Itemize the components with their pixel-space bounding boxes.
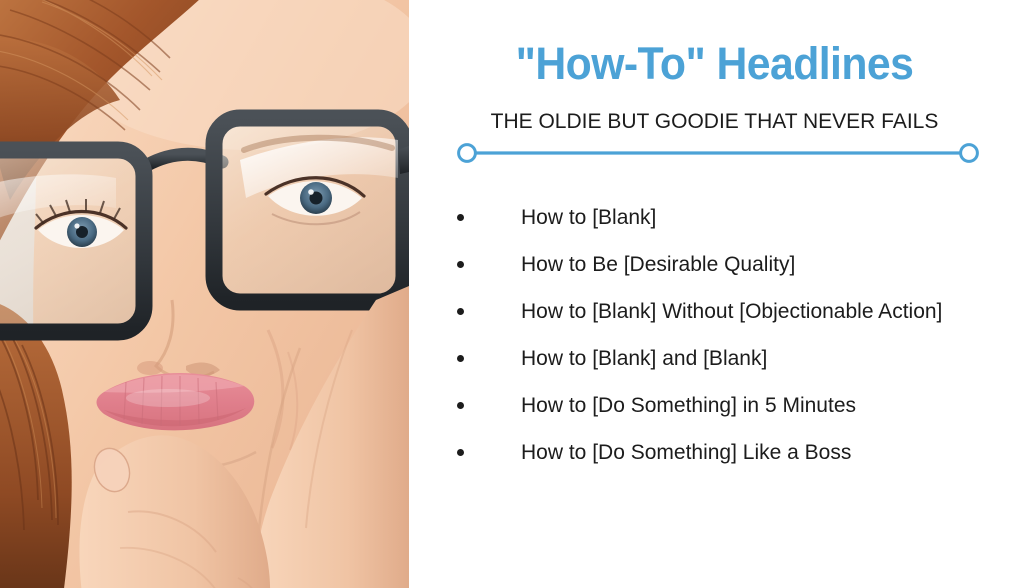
list-item-label: How to [Do Something] in 5 Minutes — [521, 394, 856, 417]
headline-list: How to [Blank] How to Be [Desirable Qual… — [453, 203, 1013, 485]
portrait-illustration — [0, 0, 409, 588]
divider — [453, 142, 983, 164]
list-item-label: How to [Blank] — [521, 206, 656, 229]
list-item: How to [Blank] Without [Objectionable Ac… — [453, 297, 1013, 344]
bullet-dot-icon — [457, 402, 464, 409]
list-item: How to [Do Something] in 5 Minutes — [453, 391, 1013, 438]
list-item-label: How to [Blank] Without [Objectionable Ac… — [521, 300, 942, 323]
bullet-dot-icon — [457, 355, 464, 362]
divider-endpoint-right-icon — [961, 145, 978, 162]
divider-line-icon — [453, 142, 983, 164]
divider-endpoint-left-icon — [459, 145, 476, 162]
list-item: How to [Blank] and [Blank] — [453, 344, 1013, 391]
list-item: How to [Blank] — [453, 203, 1013, 250]
list-item: How to Be [Desirable Quality] — [453, 250, 1013, 297]
page-title: "How-To" Headlines — [424, 38, 1004, 90]
content-panel: "How-To" Headlines THE OLDIE BUT GOODIE … — [409, 0, 1020, 588]
list-item-label: How to [Blank] and [Blank] — [521, 347, 767, 370]
list-item-label: How to [Do Something] Like a Boss — [521, 441, 851, 464]
bullet-dot-icon — [457, 214, 464, 221]
bullet-dot-icon — [457, 308, 464, 315]
list-item: How to [Do Something] Like a Boss — [453, 438, 1013, 485]
bullet-dot-icon — [457, 261, 464, 268]
slide-root: "How-To" Headlines THE OLDIE BUT GOODIE … — [0, 0, 1020, 588]
hero-photo — [0, 0, 409, 588]
list-item-label: How to Be [Desirable Quality] — [521, 253, 795, 276]
bullet-dot-icon — [457, 449, 464, 456]
page-subtitle: THE OLDIE BUT GOODIE THAT NEVER FAILS — [409, 109, 1020, 135]
